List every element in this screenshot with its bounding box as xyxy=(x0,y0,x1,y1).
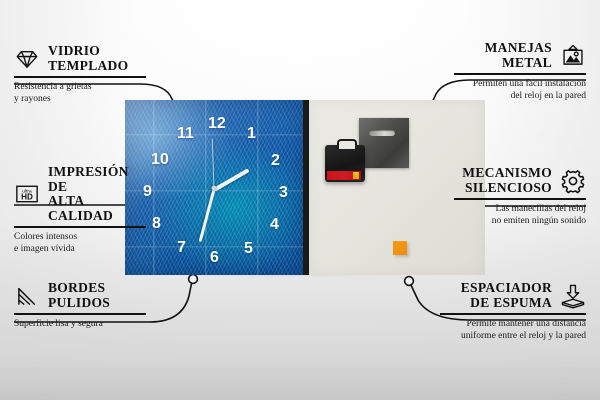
framed-picture-hanging-icon xyxy=(560,43,586,69)
callout-manejas-metal: MANEJAS METAL Permiten una fácil instala… xyxy=(454,41,586,103)
clock-numeral-1: 1 xyxy=(247,126,256,142)
callout-title-line1: ESPACIADOR xyxy=(461,280,552,295)
callout-subtitle: Superficie lisa y segura xyxy=(14,318,146,331)
silent-clock-mechanism xyxy=(325,145,365,182)
callout-title: IMPRESIÓN DE ALTA CALIDAD xyxy=(48,165,146,223)
callout-subtitle-line1: Resistencia a grietas xyxy=(14,82,92,92)
callout-subtitle-line1: Permiten una fácil instalación xyxy=(473,79,586,89)
callout-rule xyxy=(14,76,146,78)
mechanism-hang-tab xyxy=(337,139,357,149)
diamond-gem-icon xyxy=(14,46,40,72)
callout-title: ESPACIADOR DE ESPUMA xyxy=(461,281,552,310)
callout-subtitle-line2: uniforme entre el reloj y la pared xyxy=(461,331,586,341)
callout-rule xyxy=(454,73,586,75)
clock-numeral-2: 2 xyxy=(271,153,280,169)
clock-numeral-10: 10 xyxy=(151,152,169,168)
callout-subtitle-line2: y rayones xyxy=(14,94,51,104)
clock-numeral-11: 11 xyxy=(177,126,194,142)
clock-center-pin xyxy=(212,185,217,190)
callout-subtitle: Permite mantener una distancia uniforme … xyxy=(440,318,586,343)
callout-subtitle: Resistencia a grietas y rayones xyxy=(14,81,146,106)
callout-subtitle-line2: no emiten ningún sonido xyxy=(492,216,586,226)
callout-title-line1: IMPRESIÓN DE xyxy=(48,164,129,194)
callout-vidrio-templado: VIDRIO TEMPLADO Resistencia a grietas y … xyxy=(14,44,146,106)
infographic-canvas: 12 1 2 3 4 5 6 7 8 9 10 11 xyxy=(0,0,600,400)
clock-numeral-4: 4 xyxy=(270,217,279,233)
callout-title-line2: METAL xyxy=(502,55,552,70)
callout-header: MECANISMO SILENCIOSO xyxy=(454,166,586,195)
callout-title-line2: TEMPLADO xyxy=(48,58,128,73)
callout-subtitle: Permiten una fácil instalación del reloj… xyxy=(454,78,586,103)
callout-title-line2: DE ESPUMA xyxy=(470,295,552,310)
hanger-slot xyxy=(369,130,395,136)
metal-hanger-plate xyxy=(359,118,409,168)
callout-title-line2: PULIDOS xyxy=(48,295,110,310)
callout-rule xyxy=(14,226,146,228)
callout-subtitle-line1: Superficie lisa y segura xyxy=(14,319,103,329)
callout-header: VIDRIO TEMPLADO xyxy=(14,44,146,73)
clock-numeral-8: 8 xyxy=(152,216,161,232)
callout-header: MANEJAS METAL xyxy=(454,41,586,70)
callout-mecanismo-silencioso: MECANISMO SILENCIOSO Las manecillas del … xyxy=(454,166,586,228)
callout-espaciador-espuma: ESPACIADOR DE ESPUMA Permite mantener un… xyxy=(440,281,586,343)
clock-numeral-3: 3 xyxy=(279,185,288,201)
clock-numeral-12: 12 xyxy=(208,116,226,132)
callout-rule xyxy=(440,313,586,315)
callout-subtitle: Colores intensos e imagen vívida xyxy=(14,231,146,256)
callout-header: ultra HD IMPRESIÓN DE ALTA CALIDAD xyxy=(14,165,146,223)
callout-rule xyxy=(454,198,586,200)
gear-icon xyxy=(560,168,586,194)
clock-numeral-5: 5 xyxy=(244,241,253,257)
callout-title-line2: ALTA CALIDAD xyxy=(48,193,113,223)
callout-header: BORDES PULIDOS xyxy=(14,281,146,310)
foam-spacer xyxy=(393,241,407,255)
callout-bordes-pulidos: BORDES PULIDOS Superficie lisa y segura xyxy=(14,281,146,330)
callout-subtitle-line1: Permite mantener una distancia xyxy=(467,319,587,329)
mechanism-label xyxy=(327,171,361,180)
callout-title: BORDES PULIDOS xyxy=(48,281,110,310)
callout-title: MANEJAS METAL xyxy=(485,41,552,70)
diagonal-lines-icon xyxy=(14,283,40,309)
clock-front-face: 12 1 2 3 4 5 6 7 8 9 10 11 xyxy=(125,100,303,275)
callout-title-line1: BORDES xyxy=(48,280,105,295)
callout-title-line1: VIDRIO xyxy=(48,43,100,58)
ultra-hd-icon: ultra HD xyxy=(14,181,40,207)
callout-rule xyxy=(14,313,146,315)
callout-subtitle-line1: Colores intensos xyxy=(14,232,77,242)
callout-header: ESPACIADOR DE ESPUMA xyxy=(440,281,586,310)
callout-impresion-alta-calidad: ultra HD IMPRESIÓN DE ALTA CALIDAD Color… xyxy=(14,165,146,256)
clock-numeral-6: 6 xyxy=(210,250,219,266)
callout-subtitle: Las manecillas del reloj no emiten ningú… xyxy=(454,203,586,228)
clock-numeral-7: 7 xyxy=(177,240,186,256)
svg-text:HD: HD xyxy=(21,193,33,202)
callout-title-line1: MANEJAS xyxy=(485,40,552,55)
callout-subtitle-line2: del reloj en la pared xyxy=(511,91,586,101)
callout-title-line2: SILENCIOSO xyxy=(465,180,552,195)
product-photo: 12 1 2 3 4 5 6 7 8 9 10 11 xyxy=(125,100,485,275)
callout-subtitle-line1: Las manecillas del reloj xyxy=(496,204,586,214)
callout-title: VIDRIO TEMPLADO xyxy=(48,44,128,73)
callout-title-line1: MECANISMO xyxy=(462,165,552,180)
callout-title: MECANISMO SILENCIOSO xyxy=(462,166,552,195)
callout-subtitle-line2: e imagen vívida xyxy=(14,244,75,254)
arrow-down-onto-pad-icon xyxy=(560,283,586,309)
